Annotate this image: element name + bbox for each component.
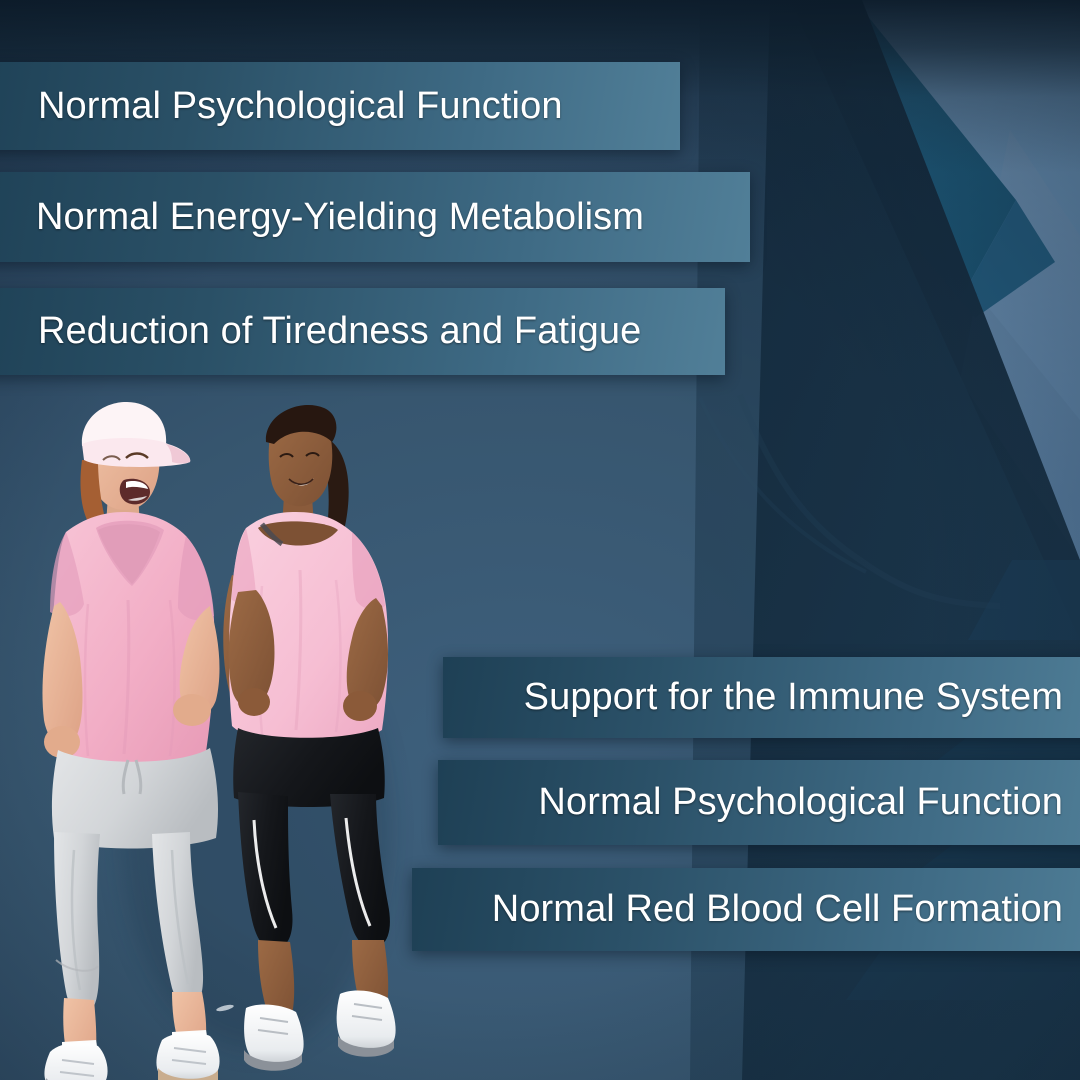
- benefit-bar-4[interactable]: Support for the Immune System: [443, 657, 1080, 738]
- benefit-label-2: Normal Energy-Yielding Metabolism: [36, 196, 644, 239]
- benefit-label-1: Normal Psychological Function: [38, 85, 563, 128]
- photo-two-women-walking: [0, 400, 420, 1080]
- benefit-label-5: Normal Psychological Function: [538, 781, 1063, 824]
- benefit-bar-1[interactable]: Normal Psychological Function: [0, 62, 680, 150]
- poster-canvas: Normal Psychological Function Normal Ene…: [0, 0, 1080, 1080]
- benefit-bar-3[interactable]: Reduction of Tiredness and Fatigue: [0, 288, 725, 375]
- benefit-label-6: Normal Red Blood Cell Formation: [492, 888, 1063, 931]
- benefit-bar-6[interactable]: Normal Red Blood Cell Formation: [412, 868, 1080, 951]
- benefit-label-3: Reduction of Tiredness and Fatigue: [38, 310, 641, 353]
- benefit-label-4: Support for the Immune System: [524, 676, 1063, 719]
- woman-in-cap: [42, 402, 219, 1080]
- benefit-bar-2[interactable]: Normal Energy-Yielding Metabolism: [0, 172, 750, 262]
- people-illustration: [0, 400, 420, 1080]
- benefit-bar-5[interactable]: Normal Psychological Function: [438, 760, 1080, 845]
